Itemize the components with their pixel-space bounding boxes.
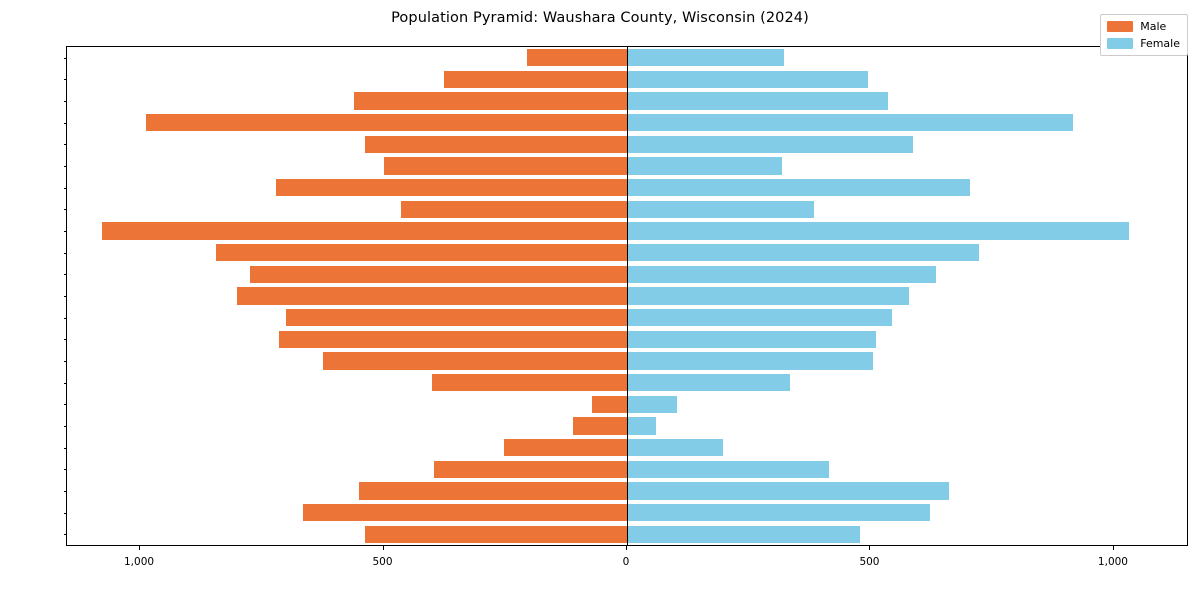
chart-legend: Male Female <box>1100 14 1188 56</box>
bar-male[interactable] <box>444 71 627 88</box>
bar-male[interactable] <box>237 287 627 304</box>
y-axis-tick <box>64 231 68 232</box>
bar-male[interactable] <box>276 179 627 196</box>
y-axis-tick <box>64 166 68 167</box>
x-axis-tick-label: 1,000 <box>124 556 154 568</box>
legend-entry-female[interactable]: Female <box>1107 37 1180 50</box>
bar-male[interactable] <box>359 482 627 499</box>
legend-entry-male[interactable]: Male <box>1107 20 1180 33</box>
y-axis-tick <box>64 188 68 189</box>
legend-swatch-female-icon <box>1107 38 1133 49</box>
legend-label-male: Male <box>1140 20 1166 33</box>
y-axis-tick <box>64 404 68 405</box>
bar-female[interactable] <box>627 222 1129 239</box>
bar-male[interactable] <box>365 526 627 543</box>
y-axis-tick <box>64 361 68 362</box>
x-axis-tick <box>626 546 627 550</box>
plot-area <box>66 46 1188 546</box>
bar-male[interactable] <box>303 504 627 521</box>
bar-female[interactable] <box>627 71 868 88</box>
x-axis-tick-label: 0 <box>623 556 630 568</box>
bar-female[interactable] <box>627 504 930 521</box>
y-axis-tick <box>64 123 68 124</box>
y-axis-tick <box>64 534 68 535</box>
bar-female[interactable] <box>627 136 913 153</box>
bar-female[interactable] <box>627 49 784 66</box>
bar-female[interactable] <box>627 331 876 348</box>
bar-male[interactable] <box>279 331 627 348</box>
y-axis-tick <box>64 426 68 427</box>
bar-female[interactable] <box>627 201 814 218</box>
bar-male[interactable] <box>401 201 627 218</box>
legend-swatch-male-icon <box>1107 21 1133 32</box>
y-axis-tick <box>64 318 68 319</box>
y-axis-tick <box>64 339 68 340</box>
bar-female[interactable] <box>627 482 949 499</box>
x-axis-tick <box>383 546 384 550</box>
bar-female[interactable] <box>627 309 892 326</box>
y-axis-tick <box>64 101 68 102</box>
bar-male[interactable] <box>432 374 627 391</box>
bar-male[interactable] <box>286 309 627 326</box>
bar-female[interactable] <box>627 439 723 456</box>
y-axis-tick <box>64 79 68 80</box>
x-axis-tick-label: 500 <box>372 556 392 568</box>
y-axis-tick <box>64 469 68 470</box>
bar-male[interactable] <box>323 352 627 369</box>
bar-male[interactable] <box>365 136 627 153</box>
y-axis-tick <box>64 383 68 384</box>
y-axis-tick <box>64 58 68 59</box>
y-axis-tick <box>64 296 68 297</box>
bar-male[interactable] <box>573 417 627 434</box>
x-axis-tick-label: 500 <box>859 556 879 568</box>
bar-female[interactable] <box>627 114 1073 131</box>
bar-female[interactable] <box>627 526 860 543</box>
bar-male[interactable] <box>250 266 627 283</box>
bar-female[interactable] <box>627 417 656 434</box>
y-axis-tick <box>64 253 68 254</box>
bar-female[interactable] <box>627 287 909 304</box>
bar-female[interactable] <box>627 374 790 391</box>
bar-male[interactable] <box>354 92 627 109</box>
y-axis-tick <box>64 448 68 449</box>
x-axis-tick <box>1113 546 1114 550</box>
bar-male[interactable] <box>527 49 627 66</box>
bar-male[interactable] <box>592 396 627 413</box>
bar-male[interactable] <box>216 244 627 261</box>
bar-female[interactable] <box>627 396 677 413</box>
bar-male[interactable] <box>384 157 627 174</box>
bar-female[interactable] <box>627 179 970 196</box>
y-axis-tick <box>64 144 68 145</box>
legend-label-female: Female <box>1140 37 1180 50</box>
bar-female[interactable] <box>627 244 979 261</box>
chart-title: Population Pyramid: Waushara County, Wis… <box>0 10 1200 26</box>
y-axis-tick <box>64 209 68 210</box>
x-axis-tick <box>869 546 870 550</box>
x-axis-tick-label: 1,000 <box>1098 556 1128 568</box>
y-axis-tick <box>64 513 68 514</box>
bar-male[interactable] <box>146 114 627 131</box>
bar-female[interactable] <box>627 461 829 478</box>
x-axis-tick <box>139 546 140 550</box>
y-axis-tick <box>64 491 68 492</box>
bar-female[interactable] <box>627 266 936 283</box>
bar-female[interactable] <box>627 352 873 369</box>
bar-female[interactable] <box>627 157 782 174</box>
bar-female[interactable] <box>627 92 888 109</box>
population-pyramid-figure: Population Pyramid: Waushara County, Wis… <box>0 0 1200 600</box>
bar-male[interactable] <box>504 439 627 456</box>
zero-axis-line <box>627 47 628 545</box>
bar-male[interactable] <box>434 461 627 478</box>
bar-male[interactable] <box>102 222 627 239</box>
y-axis-tick <box>64 274 68 275</box>
